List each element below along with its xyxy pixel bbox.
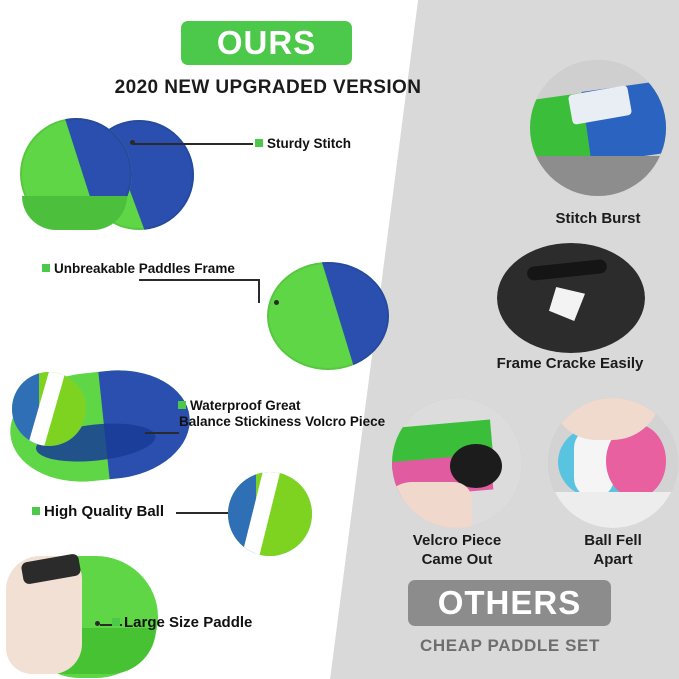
caption-frame-crack: Frame Cracke Easily bbox=[460, 355, 679, 374]
callout-marker bbox=[32, 507, 40, 515]
callout-sturdy-stitch: Sturdy Stitch bbox=[255, 136, 351, 152]
leader-dot-sturdy-stitch bbox=[130, 140, 135, 145]
paddle-middle bbox=[267, 262, 389, 370]
callout-unbreakable-frame: Unbreakable Paddles Frame bbox=[42, 261, 235, 277]
callout-marker bbox=[112, 618, 120, 626]
leader-unbreakable-frame-v bbox=[258, 279, 260, 303]
callout-waterproof-velcro: Waterproof Great Balance Stickiness Volc… bbox=[178, 398, 385, 430]
caption-velcro-came-out-line2: Came Out bbox=[382, 551, 532, 570]
callout-large-size-paddle-label: Large Size Paddle bbox=[124, 614, 252, 632]
bubble-stitch-burst bbox=[530, 60, 666, 196]
leader-velcro bbox=[145, 432, 179, 434]
ours-subtitle: 2020 NEW UPGRADED VERSION bbox=[108, 77, 428, 99]
callout-high-quality-ball: High Quality Ball bbox=[32, 503, 164, 521]
callout-marker bbox=[255, 139, 263, 147]
others-badge: OTHERS bbox=[408, 580, 611, 626]
product-comparison-image: Sturdy Stitch Unbreakable Paddles Frame … bbox=[0, 0, 679, 679]
callout-marker bbox=[42, 264, 50, 272]
others-badge-label: OTHERS bbox=[438, 584, 582, 622]
callout-marker bbox=[178, 401, 186, 409]
caption-stitch-burst-label: Stitch Burst bbox=[555, 210, 640, 227]
caption-frame-crack-label: Frame Cracke Easily bbox=[497, 355, 644, 372]
ours-badge: OURS bbox=[181, 21, 352, 65]
others-subtitle: CHEAP PADDLE SET bbox=[390, 636, 630, 656]
caption-velcro-came-out: Velcro Piece Came Out bbox=[382, 532, 532, 570]
callout-waterproof-line1: Waterproof Great bbox=[190, 398, 385, 414]
bubble-frame-crack bbox=[497, 243, 645, 353]
ball-high-quality bbox=[228, 472, 312, 556]
callout-sturdy-stitch-label: Sturdy Stitch bbox=[267, 136, 351, 152]
ball-on-velcro-paddle bbox=[12, 372, 86, 446]
caption-stitch-burst: Stitch Burst bbox=[518, 210, 678, 229]
callout-unbreakable-frame-label: Unbreakable Paddles Frame bbox=[54, 261, 235, 277]
leader-dot-unbreakable-frame bbox=[274, 300, 279, 305]
leader-dot-large-size-paddle bbox=[95, 621, 100, 626]
ours-badge-label: OURS bbox=[217, 24, 316, 62]
bubble-ball-fell-apart bbox=[548, 398, 678, 528]
caption-ball-fell-apart-line1: Ball Fell bbox=[538, 532, 679, 551]
bubble-velcro-came-out bbox=[392, 398, 522, 528]
caption-velcro-came-out-line1: Velcro Piece bbox=[382, 532, 532, 551]
callout-high-quality-ball-label: High Quality Ball bbox=[44, 503, 164, 521]
leader-sturdy-stitch bbox=[133, 143, 253, 145]
callout-large-size-paddle: Large Size Paddle bbox=[112, 614, 252, 632]
callout-waterproof-line2: Balance Stickiness Volcro Piece bbox=[179, 414, 385, 430]
leader-high-quality-ball bbox=[176, 512, 228, 514]
caption-ball-fell-apart: Ball Fell Apart bbox=[538, 532, 679, 570]
caption-ball-fell-apart-line2: Apart bbox=[538, 551, 679, 570]
leader-unbreakable-frame-h bbox=[139, 279, 259, 281]
